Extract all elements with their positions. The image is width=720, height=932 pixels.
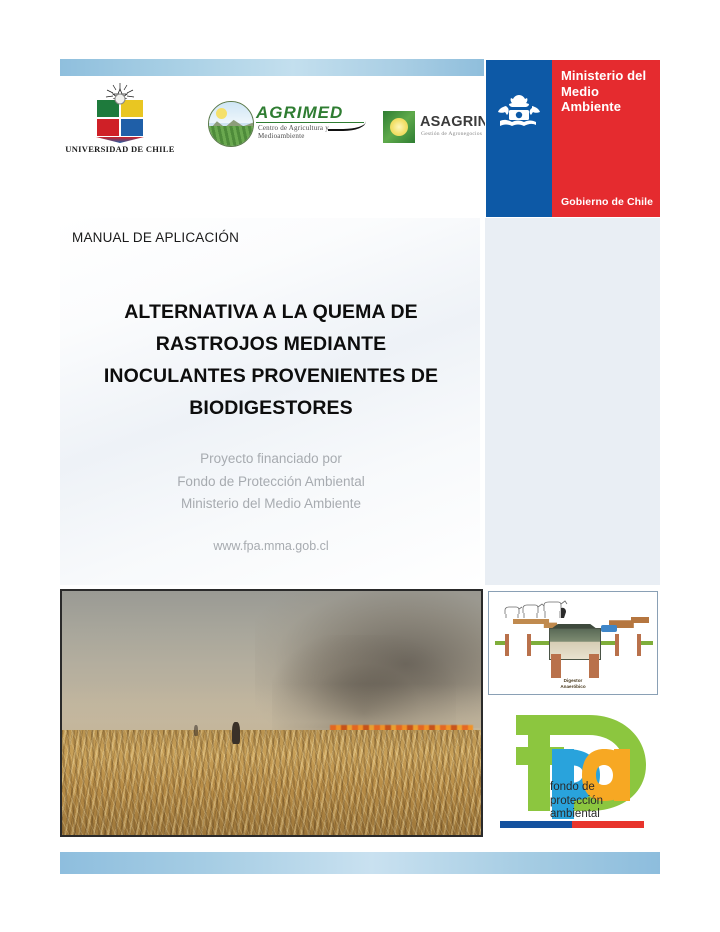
ministerio-government-label: Gobierno de Chile xyxy=(561,196,653,208)
green-square-sun-icon xyxy=(383,111,415,143)
biodigester-diagram: Digestor Anaeróbico xyxy=(488,591,658,695)
page-title-line-2: RASTROJOS MEDIANTE xyxy=(156,333,386,355)
ministerio-title: Ministerio del Medio Ambiente xyxy=(561,68,646,115)
page-title: ALTERNATIVA A LA QUEMA DE RASTROJOS MEDI… xyxy=(62,296,480,424)
gas-valve-icon xyxy=(601,625,617,632)
page-title-line-3: INOCULANTES PROVENIENTES DE xyxy=(104,365,438,387)
logo-universidad-label: UNIVERSIDAD DE CHILE xyxy=(64,144,176,154)
manure-inlet-pipe xyxy=(513,619,557,628)
shield-icon xyxy=(96,99,144,141)
diagram-caption-line-1: Digestor xyxy=(564,678,583,683)
website-url: www.fpa.mma.gob.cl xyxy=(62,539,480,553)
chile-flag-bar xyxy=(500,821,644,828)
cattle-icon xyxy=(501,598,571,620)
landscape-circle-icon xyxy=(208,101,254,147)
page-title-line-1: ALTERNATIVA A LA QUEMA DE xyxy=(124,301,418,323)
flag-blue-half xyxy=(500,821,572,828)
credits-line-3: Ministerio del Medio Ambiente xyxy=(181,496,361,511)
credits-line-1: Proyecto financiado por xyxy=(200,451,342,466)
logo-fpa: fondo de protección ambiental xyxy=(488,703,658,840)
digester-base-left xyxy=(551,654,561,678)
credits-line-2: Fondo de Protección Ambiental xyxy=(177,474,365,489)
chile-coat-of-arms-icon xyxy=(494,90,544,128)
logo-universidad-de-chile: UNIVERSIDAD DE CHILE xyxy=(64,82,176,160)
ministerio-title-line-1: Ministerio del xyxy=(561,68,646,83)
ministerio-red-panel: Ministerio del Medio Ambiente Gobierno d… xyxy=(552,60,660,217)
funding-credits: Proyecto financiado por Fondo de Protecc… xyxy=(62,448,480,516)
digester-base-right xyxy=(589,654,599,678)
fpa-words-line-3: ambiental xyxy=(550,808,600,820)
fpa-words-line-1: fondo de xyxy=(550,781,595,793)
fpa-wordmark: fondo de protección ambiental xyxy=(550,781,603,822)
flag-red-half xyxy=(572,821,644,828)
logo-ministerio-medio-ambiente: Ministerio del Medio Ambiente Gobierno d… xyxy=(486,60,660,217)
ministerio-title-line-3: Ambiente xyxy=(561,99,621,114)
document-cover-page: UNIVERSIDAD DE CHILE AGRIMED Centro de A… xyxy=(0,0,720,932)
fpa-words-line-2: protección xyxy=(550,795,603,807)
inlet-pit xyxy=(505,634,531,656)
shield-center-medallion xyxy=(115,94,126,105)
person-near xyxy=(232,722,240,744)
manual-kicker: MANUAL DE APLICACIÓN xyxy=(72,230,239,245)
diagram-caption: Digestor Anaeróbico xyxy=(489,678,657,690)
person-far xyxy=(194,725,198,736)
logo-asagrin-word: ASAGRIN xyxy=(420,114,488,130)
logo-agrimed: AGRIMED Centro de Agricultura y Medioamb… xyxy=(208,99,366,147)
logo-asagrin-subtitle: Gestión de Agronegocios xyxy=(421,131,482,137)
panel-seam xyxy=(480,218,485,585)
ministerio-blue-panel xyxy=(486,60,552,217)
ministerio-title-line-2: Medio xyxy=(561,84,599,99)
logo-asagrin: ASAGRIN Gestión de Agronegocios xyxy=(383,110,483,146)
content-right-panel xyxy=(484,218,660,585)
diagram-caption-line-2: Anaeróbico xyxy=(560,684,585,689)
page-title-line-4: BIODIGESTORES xyxy=(189,397,352,419)
header-accent-bar xyxy=(60,59,484,76)
footer-accent-bar xyxy=(60,852,660,874)
burning-field-photo xyxy=(60,589,483,837)
outlet-pit xyxy=(615,634,641,656)
